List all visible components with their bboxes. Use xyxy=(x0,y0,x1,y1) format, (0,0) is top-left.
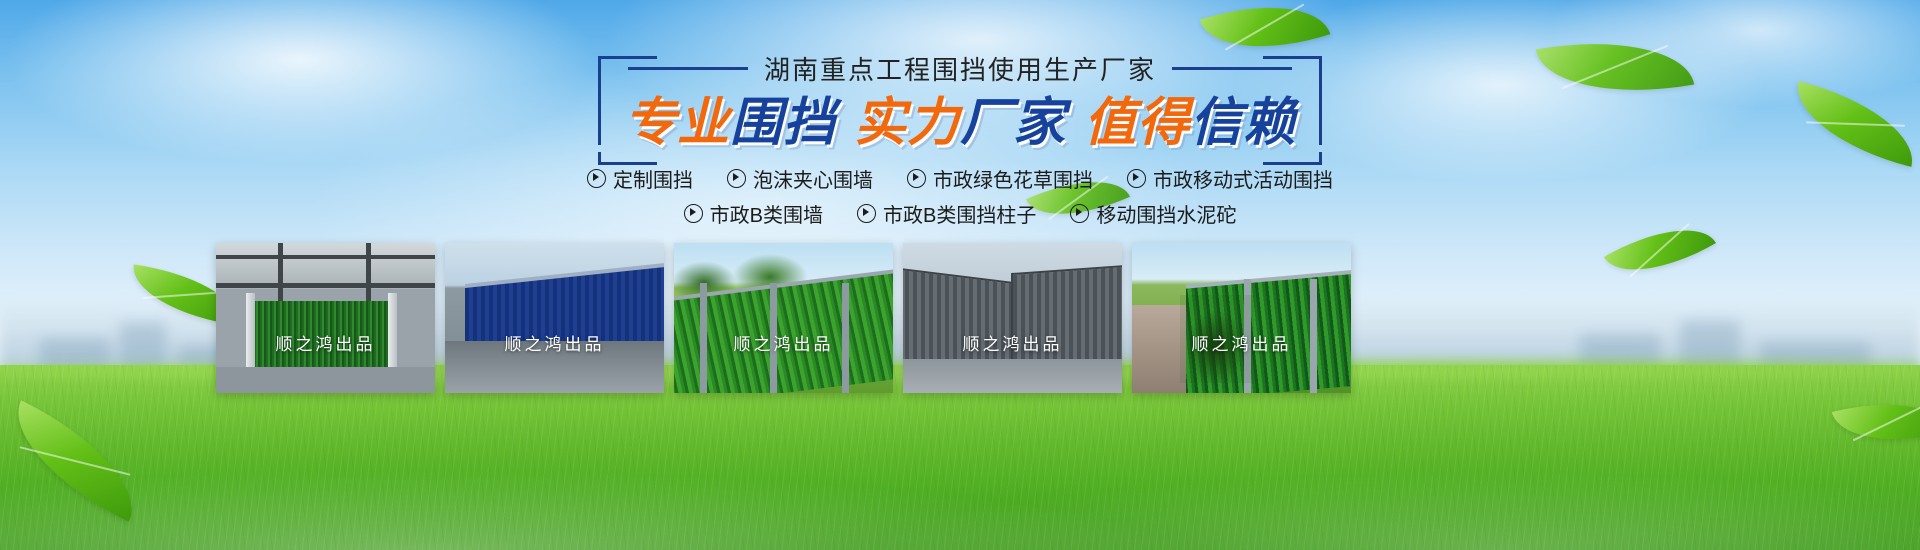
photo-detail xyxy=(216,283,435,288)
photo-detail xyxy=(216,367,435,393)
play-circle-icon xyxy=(1127,169,1146,188)
product-photo[interactable]: 顺之鸿出品 xyxy=(903,243,1122,393)
feature-list: 定制围挡 泡沫夹心围墙 市政绿色花草围挡 市政移动式活动围挡 市政B类围墙 市政… xyxy=(0,158,1920,228)
photo-detail xyxy=(445,341,664,393)
headline-word-4: 厂家 xyxy=(960,95,1066,151)
feature-label: 市政B类围挡柱子 xyxy=(883,199,1036,228)
photo-detail xyxy=(903,359,1122,393)
feature-row-2: 市政B类围墙 市政B类围挡柱子 移动围挡水泥砣 xyxy=(0,199,1920,228)
product-photo[interactable]: 顺之鸿出品 xyxy=(674,243,893,393)
banner-subtitle: 湖南重点工程围挡使用生产厂家 xyxy=(764,50,1156,87)
bracket-corner-top-right xyxy=(1263,56,1322,145)
bracket-corner-top-left xyxy=(598,56,657,145)
feature-item[interactable]: 市政B类围挡柱子 xyxy=(857,199,1036,228)
play-circle-icon xyxy=(907,169,926,188)
photo-detail xyxy=(1310,279,1317,393)
bracket-frame: 湖南重点工程围挡使用生产厂家 专业围挡实力厂家值得信赖 xyxy=(598,44,1322,161)
play-circle-icon xyxy=(1070,204,1089,223)
product-photo-strip: 顺之鸿出品 顺之鸿出品 顺之鸿出品 顺之鸿出品 xyxy=(216,243,1351,393)
headline-word-5: 值得 xyxy=(1084,95,1190,151)
feature-label: 市政B类围墙 xyxy=(710,199,823,228)
product-photo[interactable]: 顺之鸿出品 xyxy=(216,243,435,393)
feature-label: 泡沫夹心围墙 xyxy=(753,164,873,193)
feature-label: 市政绿色花草围挡 xyxy=(933,164,1093,193)
product-photo[interactable]: 顺之鸿出品 xyxy=(445,243,664,393)
feature-label: 定制围挡 xyxy=(613,164,693,193)
product-photo[interactable]: 顺之鸿出品 xyxy=(1132,243,1351,393)
photo-detail xyxy=(278,243,283,303)
feature-row-1: 定制围挡 泡沫夹心围墙 市政绿色花草围挡 市政移动式活动围挡 xyxy=(0,164,1920,193)
play-circle-icon xyxy=(857,204,876,223)
play-circle-icon xyxy=(727,169,746,188)
photo-detail xyxy=(216,255,435,259)
feature-item[interactable]: 定制围挡 xyxy=(587,164,693,193)
feature-item[interactable]: 市政绿色花草围挡 xyxy=(907,164,1093,193)
headline-word-3: 实力 xyxy=(854,95,960,151)
banner-headline: 专业围挡实力厂家值得信赖 xyxy=(624,95,1296,151)
photo-detail xyxy=(366,243,371,303)
feature-label: 市政移动式活动围挡 xyxy=(1153,164,1333,193)
subtitle-row: 湖南重点工程围挡使用生产厂家 xyxy=(624,50,1296,87)
play-circle-icon xyxy=(587,169,606,188)
photo-detail xyxy=(700,283,707,393)
feature-item[interactable]: 移动围挡水泥砣 xyxy=(1070,199,1236,228)
feature-item[interactable]: 泡沫夹心围墙 xyxy=(727,164,873,193)
feature-label: 移动围挡水泥砣 xyxy=(1096,199,1236,228)
photo-detail xyxy=(842,283,849,393)
headline-block: 湖南重点工程围挡使用生产厂家 专业围挡实力厂家值得信赖 xyxy=(0,44,1920,161)
feature-item[interactable]: 市政移动式活动围挡 xyxy=(1127,164,1333,193)
photo-detail xyxy=(770,283,777,393)
photo-detail xyxy=(1180,295,1254,383)
promo-banner: 湖南重点工程围挡使用生产厂家 专业围挡实力厂家值得信赖 定制围挡 泡沫夹心围墙 … xyxy=(0,0,1920,550)
headline-word-2: 围挡 xyxy=(730,95,836,151)
play-circle-icon xyxy=(684,204,703,223)
feature-item[interactable]: 市政B类围墙 xyxy=(684,199,823,228)
